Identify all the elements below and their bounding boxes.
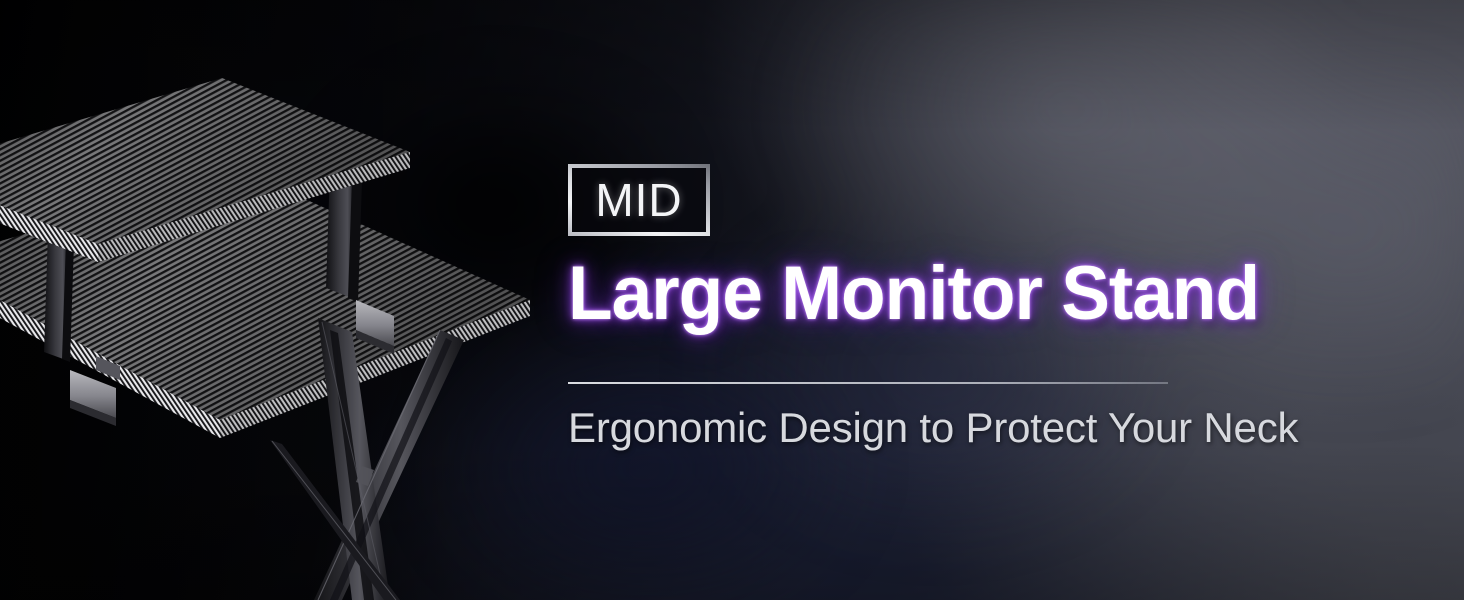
brand-badge-label: MID xyxy=(595,177,682,223)
page-subtitle: Ergonomic Design to Protect Your Neck xyxy=(568,404,1428,452)
title-divider xyxy=(568,382,1168,384)
monitor-stand-illustration xyxy=(0,0,590,600)
page-title: Large Monitor Stand xyxy=(568,258,1394,331)
monitor-stand-product-image xyxy=(0,0,590,600)
product-hero-banner: MID Large Monitor Stand Ergonomic Design… xyxy=(0,0,1464,600)
brand-badge: MID xyxy=(568,164,710,236)
hero-copy-block: MID Large Monitor Stand Ergonomic Design… xyxy=(568,164,1428,487)
